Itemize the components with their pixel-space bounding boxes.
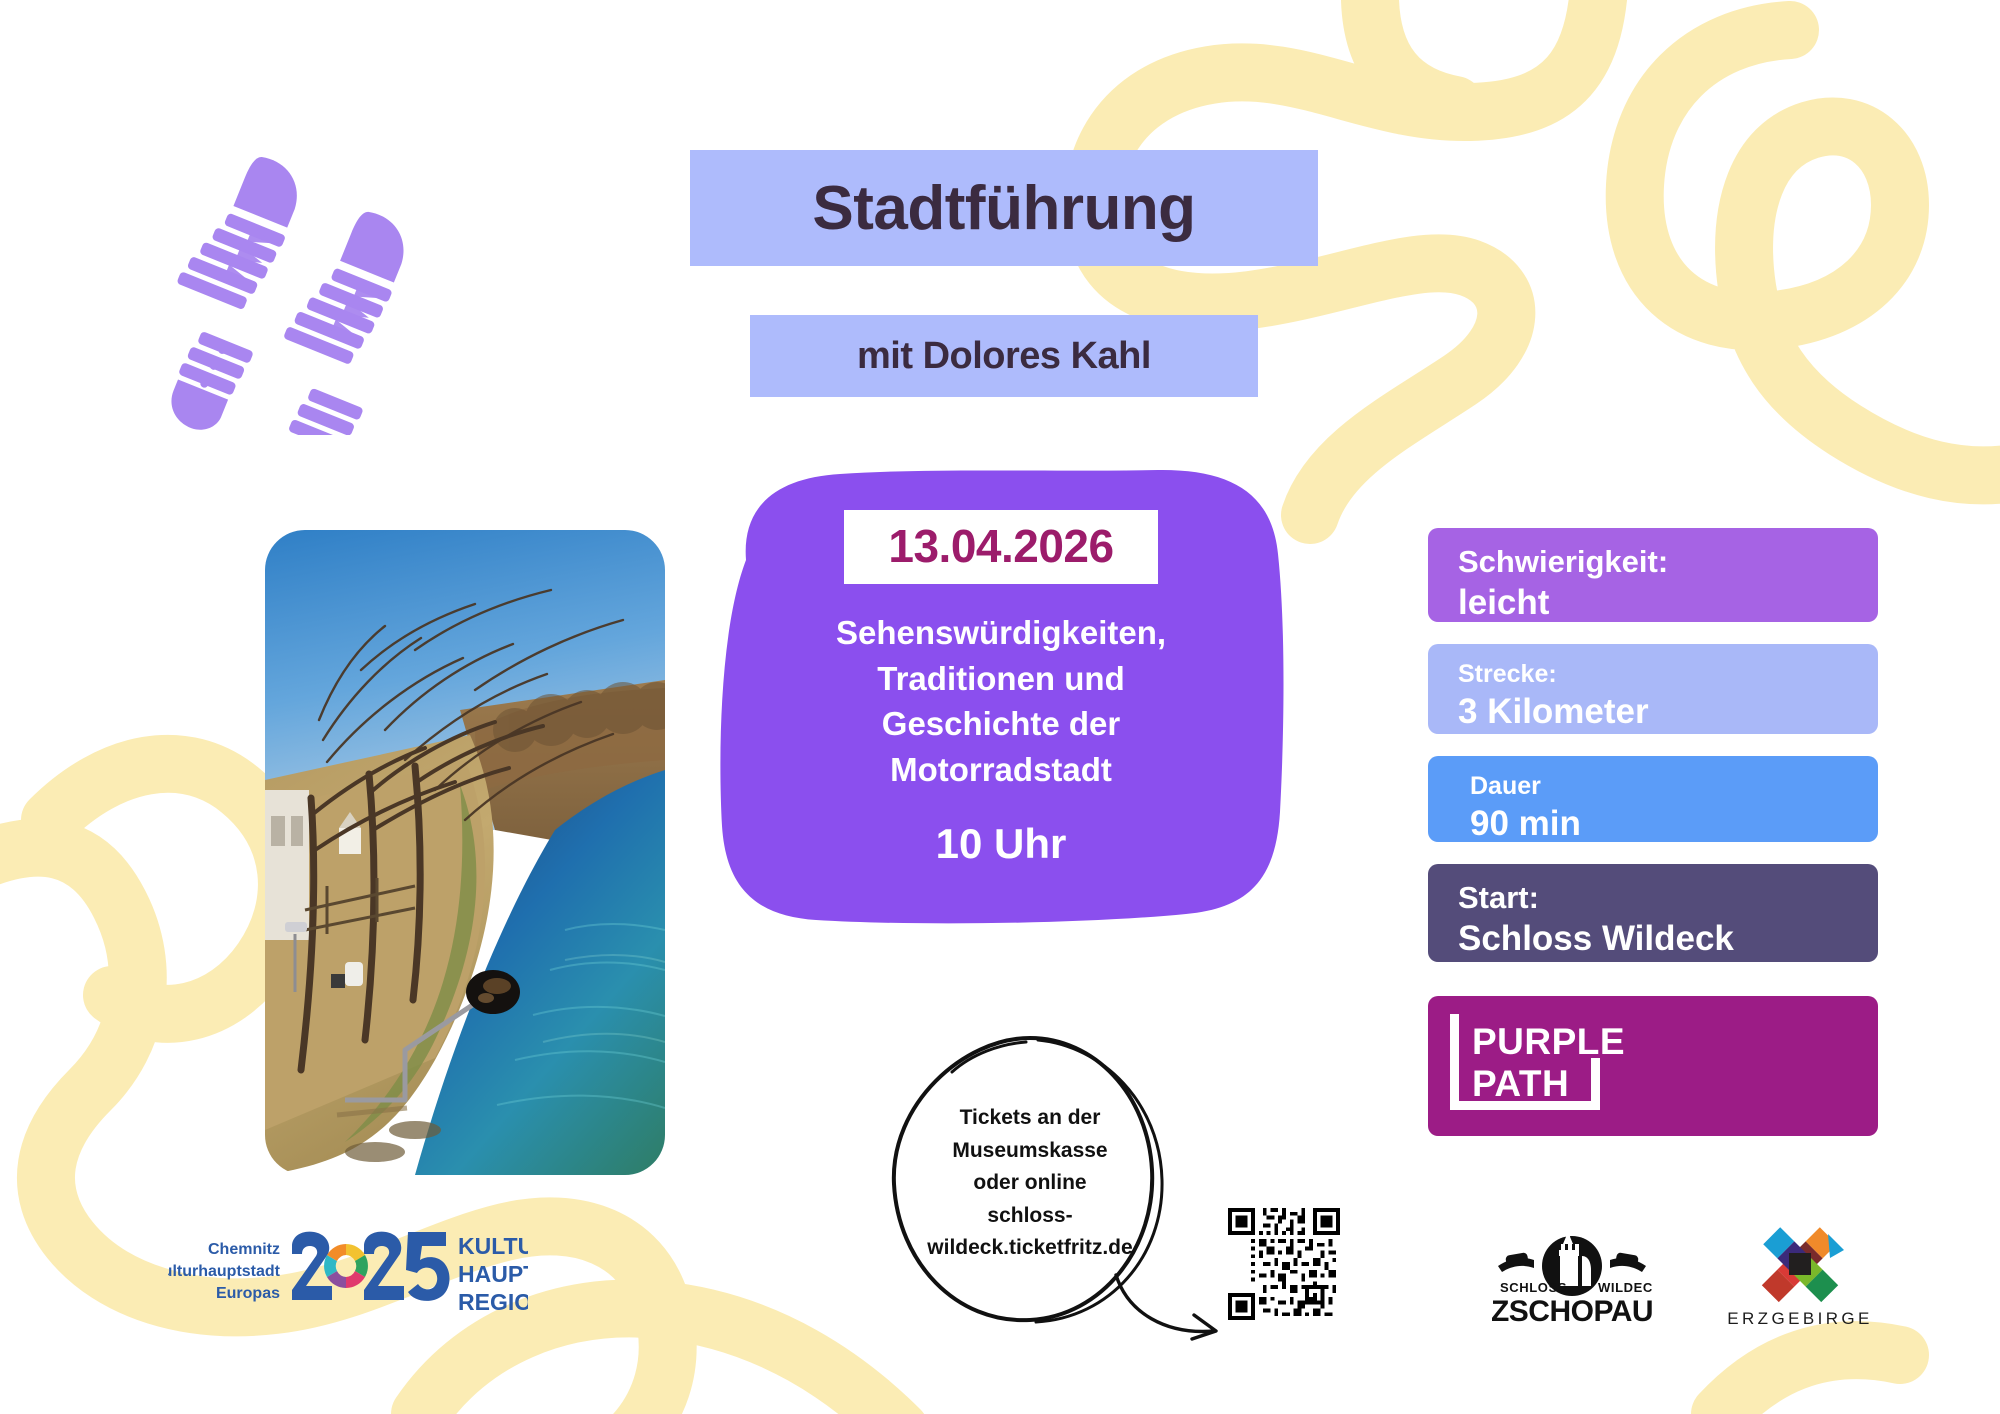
event-description-line: Motorradstadt xyxy=(836,747,1166,793)
event-description-line: Traditionen und xyxy=(836,656,1166,702)
chemnitz-line1: Chemnitz xyxy=(208,1241,280,1258)
arrow-icon xyxy=(1110,1265,1230,1345)
info-value: leicht xyxy=(1458,582,1848,624)
chemnitz-line3: Europas xyxy=(216,1285,280,1302)
chemnitz-region-line1: KULTUR- xyxy=(458,1233,528,1259)
tour-info-list: Schwierigkeit: leicht Strecke: 3 Kilomet… xyxy=(1428,528,1878,984)
ticket-line: oder online xyxy=(910,1167,1150,1200)
purple-path-line1: PURPLE xyxy=(1472,1021,1625,1062)
info-value: 90 min xyxy=(1470,803,1848,845)
info-label: Start: xyxy=(1458,880,1848,916)
info-box-difficulty: Schwierigkeit: leicht xyxy=(1428,528,1878,622)
chemnitz-region-line3: REGION xyxy=(458,1289,528,1315)
event-description-line: Geschichte der xyxy=(836,701,1166,747)
zschopau-right-word: WILDECK xyxy=(1598,1280,1652,1295)
zschopau-left-word: SCHLOSS xyxy=(1500,1280,1567,1295)
footprints-icon xyxy=(150,145,440,435)
ticket-line: Tickets an der xyxy=(910,1102,1150,1135)
chemnitz-2025-logo: Chemnitz Kulturhauptstadt Europas xyxy=(168,1228,528,1338)
event-date: 13.04.2026 xyxy=(844,510,1157,584)
ticket-info-text: Tickets an der Museumskasse oder online … xyxy=(910,1102,1150,1265)
info-value: 3 Kilometer xyxy=(1458,691,1848,733)
purple-path-logo: PURPLE PATH PURPLE PATH xyxy=(1428,996,1878,1136)
ticket-line: wildeck.ticketfritz.de xyxy=(910,1232,1150,1265)
poster-canvas: Stadtführung mit Dolores Kahl xyxy=(0,0,2000,1414)
info-value: Schloss Wildeck xyxy=(1458,918,1848,960)
info-label: Strecke: xyxy=(1458,660,1848,689)
ticket-line: Museumskasse xyxy=(910,1135,1150,1168)
chemnitz-region-line2: HAUPTSTADT- xyxy=(458,1261,528,1287)
page-subtitle: mit Dolores Kahl xyxy=(750,315,1258,397)
erzgebirge-label: ERZGEBIRGE xyxy=(1727,1309,1872,1328)
schloss-wildeck-zschopau-logo: SCHLOSS WILDECK ZSCHOPAU SCHLOSS WILDECK… xyxy=(1492,1222,1652,1332)
zschopau-main-word: ZSCHOPAU xyxy=(1492,1295,1652,1328)
erzgebirge-logo: ERZGEBIRGE ERZGEBIRGE xyxy=(1725,1218,1875,1336)
qr-code[interactable] xyxy=(1228,1208,1340,1320)
event-description: Sehenswürdigkeiten, Traditionen und Gesc… xyxy=(836,610,1166,792)
info-label: Schwierigkeit: xyxy=(1458,544,1848,580)
info-box-distance: Strecke: 3 Kilometer xyxy=(1428,644,1878,734)
event-description-line: Sehenswürdigkeiten, xyxy=(836,610,1166,656)
info-box-start: Start: Schloss Wildeck xyxy=(1428,864,1878,962)
river-photo xyxy=(265,530,665,1175)
event-time: 10 Uhr xyxy=(936,820,1067,868)
page-title: Stadtführung xyxy=(690,150,1318,266)
info-label: Dauer xyxy=(1470,772,1848,801)
chemnitz-line2: Kulturhauptstadt xyxy=(168,1263,281,1280)
info-box-duration: Dauer 90 min xyxy=(1428,756,1878,842)
ticket-line: schloss- xyxy=(910,1200,1150,1233)
purple-path-line2: PATH xyxy=(1472,1063,1569,1104)
event-details-blob: 13.04.2026 Sehenswürdigkeiten, Tradition… xyxy=(712,468,1290,928)
